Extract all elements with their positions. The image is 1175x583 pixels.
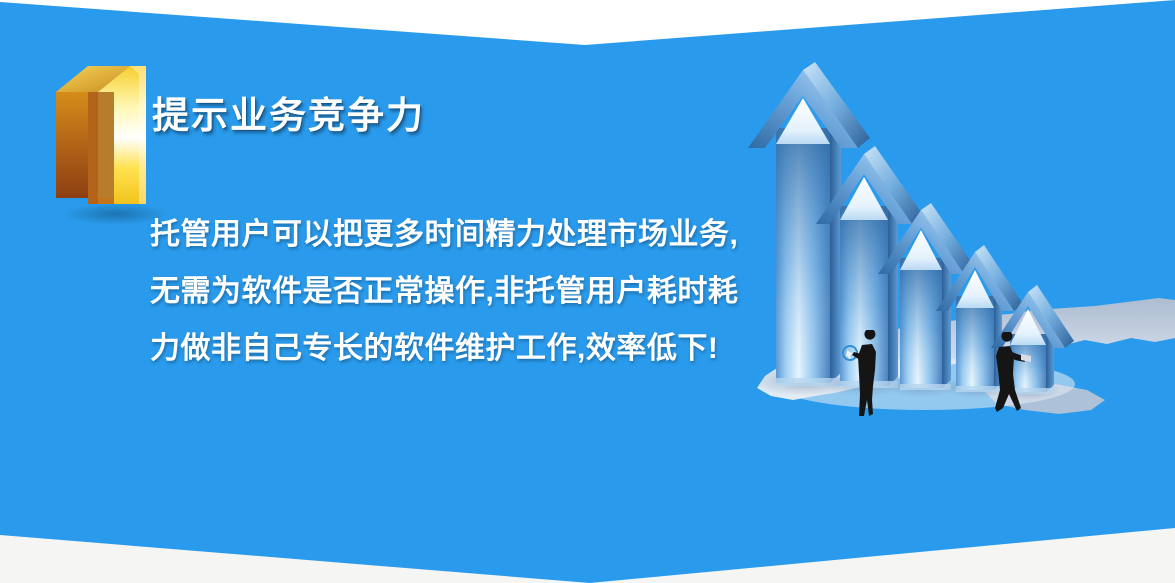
body-line-1: 托管用户可以把更多时间精力处理市场业务, <box>150 206 790 263</box>
body-line-2: 无需为软件是否正常操作,非托管用户耗时耗 <box>150 263 790 320</box>
numeral-side-edge <box>88 92 98 204</box>
page-title: 提示业务竞争力 <box>152 96 425 137</box>
cursor-arrow-icon <box>846 350 853 359</box>
person-2-head <box>1001 332 1012 342</box>
businessman-walking <box>985 332 1033 422</box>
body-copy: 托管用户可以把更多时间精力处理市场业务, 无需为软件是否正常操作,非托管用户耗时… <box>150 206 790 377</box>
arrow-3-shaft-shade <box>900 258 942 388</box>
person-1-head <box>864 330 875 340</box>
promo-banner: 提示业务竞争力 托管用户可以把更多时间精力处理市场业务, 无需为软件是否正常操作… <box>0 0 1175 583</box>
arrow-1-shaft-side <box>830 118 841 383</box>
numeral-inner-edge <box>98 92 114 204</box>
businessman-pointing <box>842 330 888 422</box>
body-line-3: 力做非自己专长的软件维护工作,效率低下! <box>150 320 790 377</box>
arrow-group <box>740 40 1175 460</box>
arrow-2-shaft-side <box>888 197 898 386</box>
